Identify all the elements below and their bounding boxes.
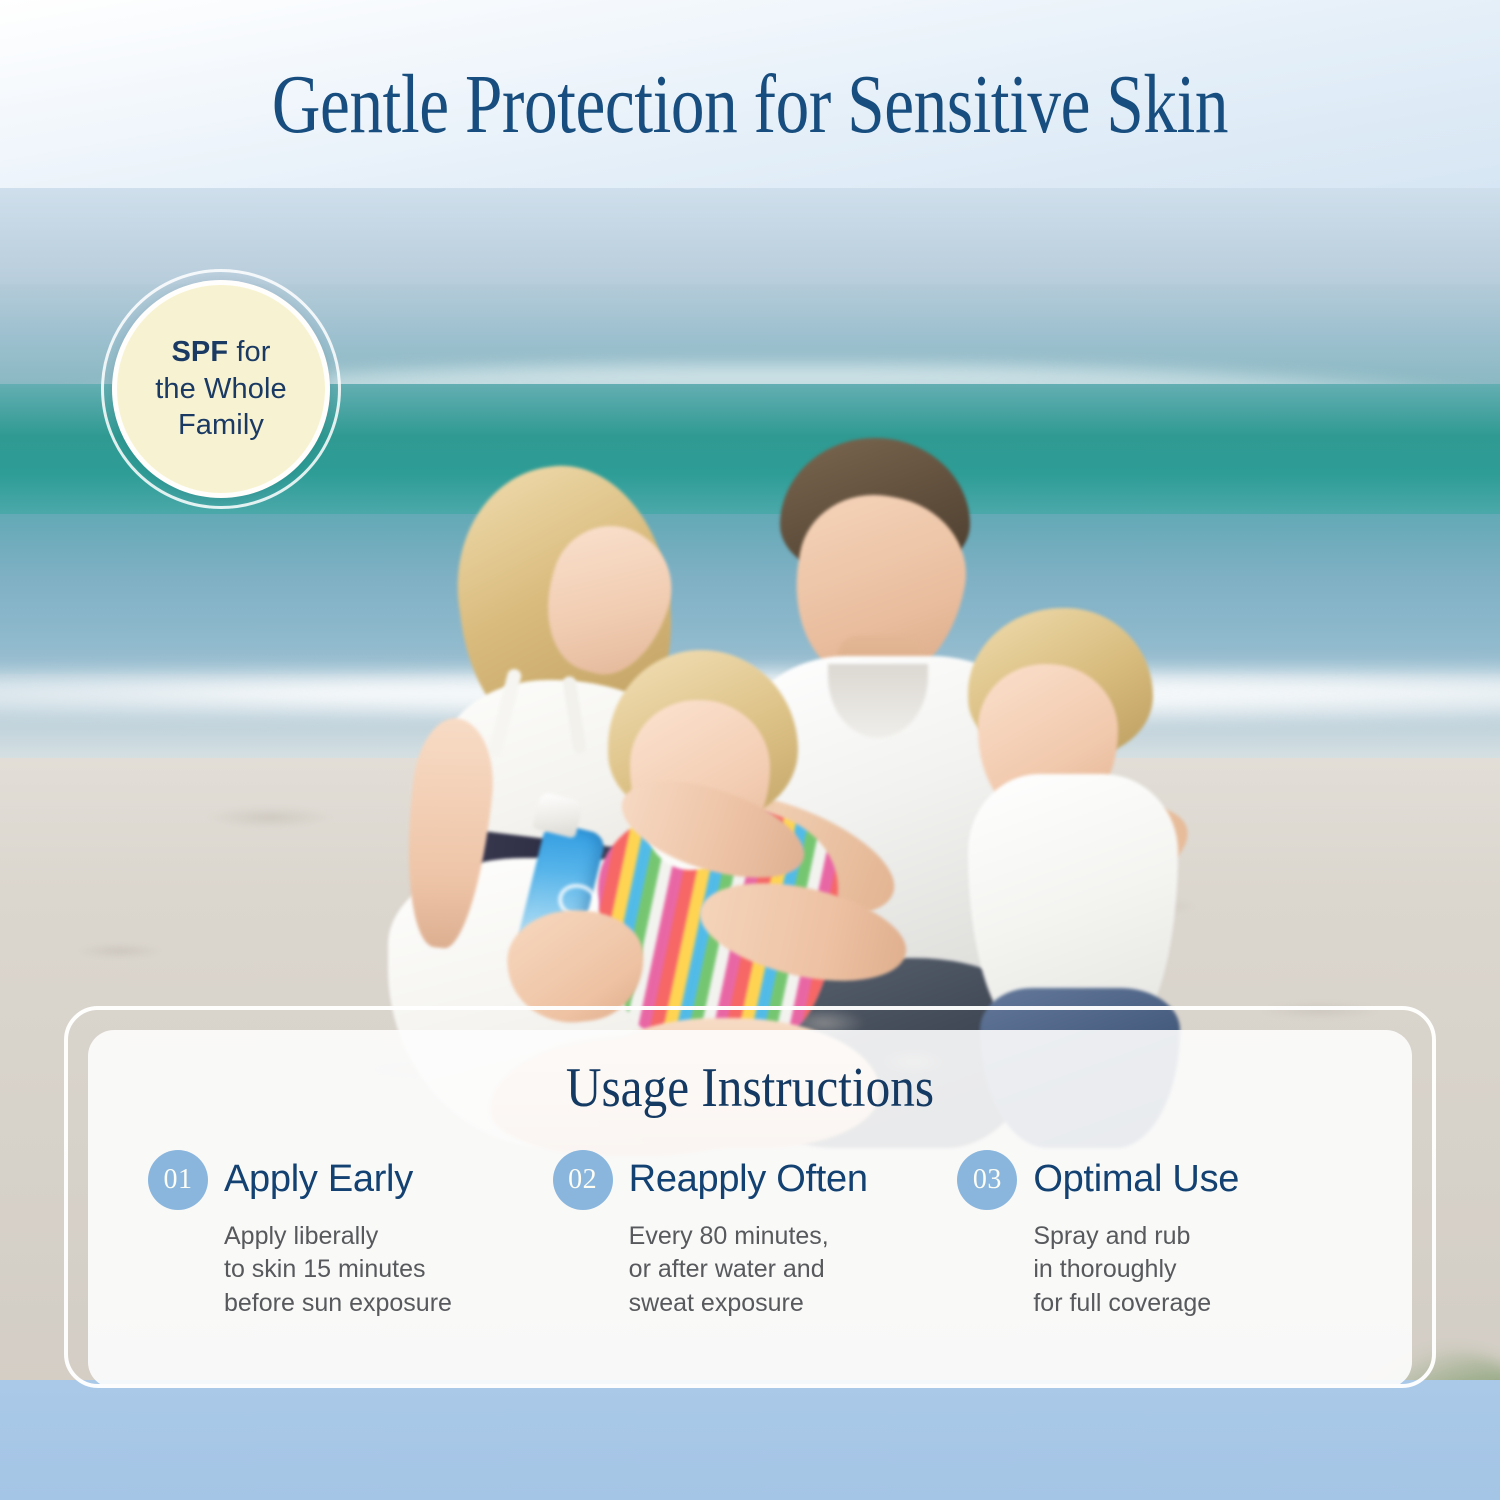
page-title: Gentle Protection for Sensitive Skin — [150, 60, 1350, 151]
spf-badge-text: SPF for the Whole Family — [155, 334, 286, 444]
family-group — [380, 418, 1180, 1108]
step-description: Spray and rub in thoroughly for full cov… — [1033, 1220, 1352, 1321]
step-title: Optimal Use — [1033, 1158, 1239, 1201]
step-header: 03 Optimal Use — [957, 1150, 1352, 1210]
step-title: Apply Early — [224, 1158, 413, 1201]
spf-badge-line1-rest: for — [228, 336, 270, 368]
step-header: 01 Apply Early — [148, 1150, 543, 1210]
step-item-01: 01 Apply Early Apply liberally to skin 1… — [148, 1150, 543, 1321]
step-description: Every 80 minutes, or after water and swe… — [629, 1220, 948, 1321]
spf-badge-bold-label: SPF — [171, 336, 228, 368]
steps-row: 01 Apply Early Apply liberally to skin 1… — [128, 1150, 1372, 1321]
step-title: Reapply Often — [629, 1158, 868, 1201]
spf-badge-line3: Family — [178, 409, 264, 441]
step-number-badge: 02 — [553, 1150, 613, 1210]
step-item-03: 03 Optimal Use Spray and rub in thorough… — [957, 1150, 1352, 1321]
step-item-02: 02 Reapply Often Every 80 minutes, or af… — [553, 1150, 948, 1321]
infographic-canvas: Gentle Protection for Sensitive Skin — [0, 0, 1500, 1500]
step-number-badge: 03 — [957, 1150, 1017, 1210]
step-description: Apply liberally to skin 15 minutes befor… — [224, 1220, 543, 1321]
panel-title: Usage Instructions — [203, 1058, 1298, 1120]
step-number-badge: 01 — [148, 1150, 208, 1210]
bottom-color-strip — [0, 1380, 1500, 1500]
spf-badge-line2: the Whole — [155, 373, 286, 405]
step-header: 02 Reapply Often — [553, 1150, 948, 1210]
usage-instructions-panel: Usage Instructions 01 Apply Early Apply … — [88, 1030, 1412, 1388]
spf-badge: SPF for the Whole Family — [112, 280, 330, 498]
